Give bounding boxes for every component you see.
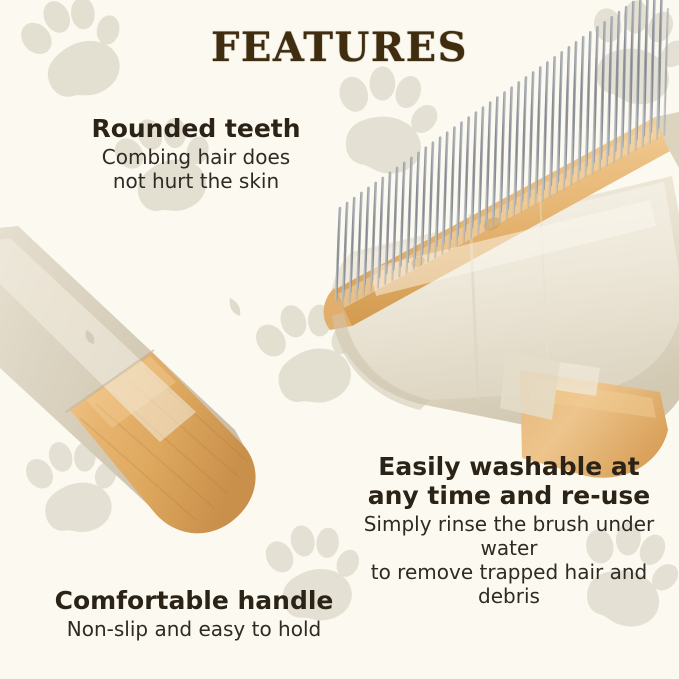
brush-pin: [528, 104, 532, 207]
brush-pin: [578, 69, 582, 181]
brush-pin: [350, 198, 354, 292]
brush-pin: [542, 94, 546, 200]
brush-pin: [564, 79, 568, 188]
brush-pin: [385, 205, 389, 284]
brush-pin: [592, 59, 596, 173]
brush-pin: [472, 113, 476, 228]
brush-pin: [479, 108, 483, 224]
feature-heading: Comfortable handle: [0, 586, 388, 615]
paw-center-left-icon: [237, 287, 377, 427]
feature-description: Non-slip and easy to hold: [0, 617, 388, 641]
feature-rounded-teeth: Rounded teeth Combing hair does not hurt…: [0, 114, 392, 193]
brush-pin: [492, 130, 496, 227]
brush-pin: [501, 93, 505, 213]
brush-pin: [557, 84, 561, 192]
feature-description: Combing hair does not hurt the skin: [0, 145, 392, 193]
paw-right-edge-icon: [618, 244, 679, 373]
feature-heading: Rounded teeth: [0, 114, 392, 143]
brush-pin: [400, 163, 404, 266]
brush-pin: [558, 52, 562, 181]
brush-pin: [551, 57, 555, 185]
brush-pin: [515, 82, 519, 204]
brush-pin: [365, 188, 369, 285]
brush-pin: [451, 128, 455, 239]
brush-pin: [371, 215, 375, 292]
brush-pin: [442, 165, 446, 254]
feature-comfortable-handle: Comfortable handle Non-slip and easy to …: [0, 586, 388, 641]
paw-handle-left-icon: [9, 427, 134, 552]
paw-mid-left-icon: [0, 265, 103, 389]
brush-pin: [421, 180, 425, 265]
brush-pin: [415, 153, 419, 258]
brush-pin: [493, 98, 497, 216]
feature-easily-washable: Easily washable at any time and re-use S…: [339, 452, 679, 608]
brush-pin: [514, 115, 518, 216]
brush-pin: [343, 203, 347, 296]
brush-pin: [399, 195, 403, 277]
brush-pin: [535, 99, 539, 203]
brush-pin: [378, 210, 382, 288]
feature-description: Simply rinse the brush under water to re…: [339, 512, 679, 608]
brush-pin: [478, 140, 482, 235]
brush-pin: [356, 225, 360, 299]
brush-pin: [499, 125, 503, 223]
brush-pin: [529, 72, 533, 196]
brush-pin: [508, 88, 512, 209]
brush-pin: [429, 143, 433, 251]
brush-pin: [372, 183, 376, 281]
brush-pin: [457, 155, 461, 246]
brush-pin: [408, 158, 412, 262]
brush-pin: [521, 109, 525, 211]
brush-pin: [435, 170, 439, 258]
brush-pin: [364, 220, 368, 296]
brush-pin: [342, 235, 346, 307]
brush-handle-group: [0, 226, 256, 533]
brush-pin: [485, 135, 489, 231]
brush-pin: [349, 230, 353, 303]
brush-pin: [449, 160, 453, 250]
brush-pin: [536, 67, 540, 193]
features-infographic: FEATURES Rounded teeth Combing hair does…: [0, 0, 679, 679]
brush-pin: [414, 185, 418, 269]
brush-pin: [436, 138, 440, 247]
brush-pin: [392, 200, 396, 280]
page-title: FEATURES: [0, 24, 679, 71]
brush-pin: [358, 193, 362, 289]
feature-heading: Easily washable at any time and re-use: [339, 452, 679, 510]
brush-pin: [471, 145, 475, 239]
brush-pin: [443, 133, 447, 243]
brush-pin: [544, 62, 548, 189]
brush-pin: [422, 148, 426, 254]
brush-pin: [406, 190, 410, 273]
brush-pin: [550, 89, 554, 196]
brush-pin: [486, 103, 490, 220]
brush-pin: [585, 64, 589, 177]
brush-pin: [428, 175, 432, 261]
brush-pin: [464, 150, 468, 242]
brush-pin: [600, 54, 604, 169]
brush-pin: [465, 118, 469, 232]
brush-pin: [458, 123, 462, 235]
brush-pin: [336, 208, 340, 300]
brush-pin: [393, 168, 397, 270]
brush-pin: [507, 120, 511, 220]
brush-pin: [522, 77, 526, 200]
brush-pin: [571, 74, 575, 184]
